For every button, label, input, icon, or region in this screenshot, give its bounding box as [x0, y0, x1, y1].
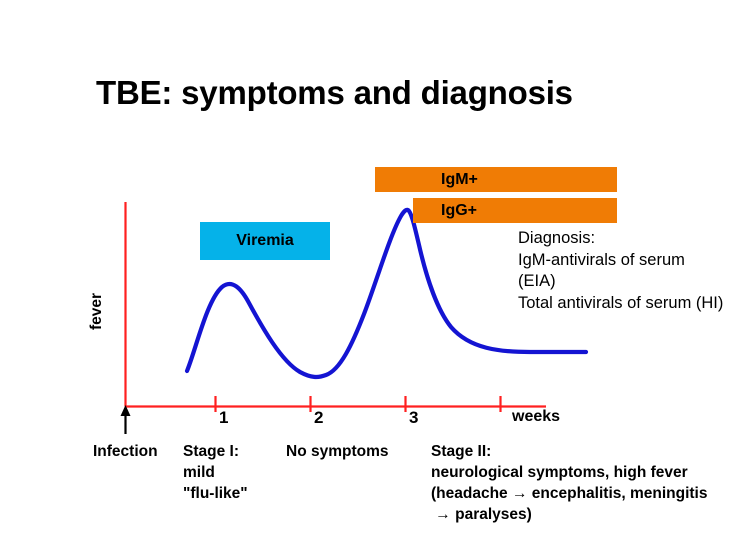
caption-stage-1: Stage I: mild "flu-like" [183, 441, 248, 504]
x-tick-label-1: 1 [219, 408, 228, 428]
page-title: TBE: symptoms and diagnosis [96, 74, 573, 112]
diagnosis-line-1: IgM-antivirals of serum [518, 250, 723, 272]
x-tick-label-3: 3 [409, 408, 418, 428]
x-tick-label-2: 2 [314, 408, 323, 428]
y-axis-label: fever [88, 270, 106, 330]
x-axis-label: weeks [512, 408, 560, 426]
igm-bar-label: IgM+ [441, 171, 478, 189]
infection-arrow-icon [121, 405, 131, 434]
viremia-box: Viremia [200, 222, 330, 260]
igm-positive-bar: IgM+ [375, 167, 617, 192]
caption-infection: Infection [93, 441, 158, 462]
diagnosis-line-3: Total antivirals of serum (HI) [518, 293, 723, 315]
caption-no-symptoms: No symptoms [286, 441, 389, 462]
igg-bar-label: IgG+ [441, 202, 477, 220]
diagnosis-line-0: Diagnosis: [518, 228, 723, 250]
diagnosis-line-2: (EIA) [518, 271, 723, 293]
caption-stage-2: Stage II: neurological symptoms, high fe… [431, 441, 708, 525]
igg-positive-bar: IgG+ [413, 198, 617, 223]
slide-canvas: TBE: symptoms and diagnosis IgM+ IgG+ Vi… [0, 0, 751, 552]
diagnosis-text-block: Diagnosis: IgM-antivirals of serum (EIA)… [518, 228, 723, 314]
viremia-label: Viremia [236, 232, 294, 250]
